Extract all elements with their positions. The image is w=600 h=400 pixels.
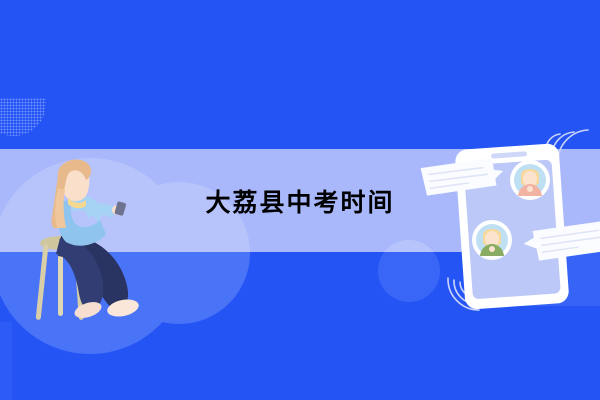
banner-canvas: 大荔县中考时间: [0, 0, 600, 400]
soft-rect-left-decor: [0, 322, 12, 400]
dotted-semicircle-decor: [0, 98, 46, 136]
page-title: 大荔县中考时间: [0, 149, 600, 252]
